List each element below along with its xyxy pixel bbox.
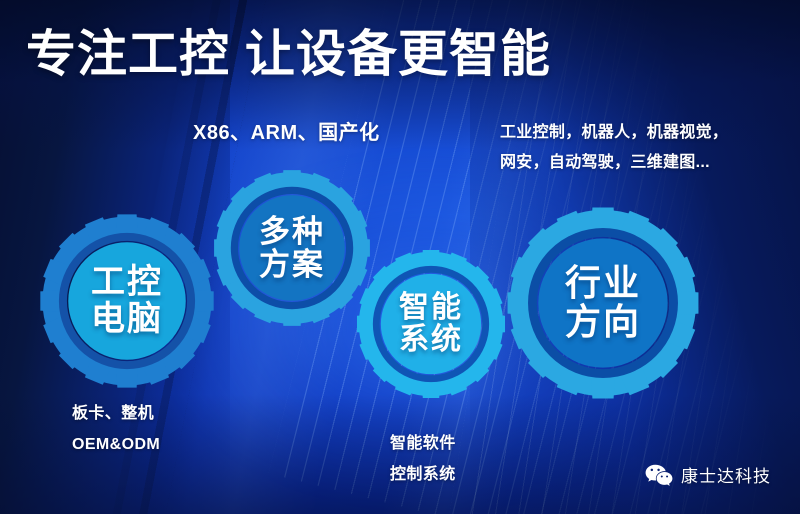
gear-tooth xyxy=(214,238,234,258)
wechat-icon xyxy=(645,464,673,486)
gear-tooth xyxy=(192,290,214,312)
gear-shape-icon xyxy=(212,168,372,328)
gear-tooth xyxy=(675,291,699,315)
gear-tooth xyxy=(591,208,615,232)
gear-shape-icon xyxy=(505,205,701,401)
caption-software-line-2: 控制系统 xyxy=(390,459,456,490)
gear-industry-direction[interactable]: 行业 方向 xyxy=(505,205,701,401)
gear-tooth xyxy=(422,250,441,269)
gear-tooth xyxy=(40,290,62,312)
wechat-account-name: 康士达科技 xyxy=(681,462,771,487)
gear-tooth xyxy=(422,379,441,398)
subtitle-applications: 工业控制，机器人，机器视觉， 网安，自动驾驶，三维建图... xyxy=(500,118,728,177)
gear-industrial-pc[interactable]: 工控 电脑 xyxy=(38,212,216,390)
caption-software-line-1: 智能软件 xyxy=(390,428,456,459)
promo-banner: 专注工控 让设备更智能 X86、ARM、国产化 工业控制，机器人，机器视觉， 网… xyxy=(0,0,800,514)
gear-tooth xyxy=(282,170,302,190)
gear-intelligent-system[interactable]: 智能 系统 xyxy=(355,248,507,400)
gear-tooth xyxy=(486,315,505,334)
gear-tooth xyxy=(591,375,615,399)
gear-shape-icon xyxy=(355,248,507,400)
caption-hardware-line-1: 板卡、整机 xyxy=(72,398,160,429)
gear-multiple-solutions[interactable]: 多种 方案 xyxy=(212,168,372,328)
gear-shape-icon xyxy=(38,212,216,390)
gear-tooth xyxy=(508,291,532,315)
caption-software: 智能软件 控制系统 xyxy=(390,428,456,490)
subtitle-applications-line-2: 网安，自动驾驶，三维建图... xyxy=(500,148,728,178)
caption-hardware-line-2: OEM&ODM xyxy=(72,429,160,460)
wechat-account-badge[interactable]: 康士达科技 xyxy=(645,462,771,487)
gear-tooth xyxy=(116,214,138,236)
gear-tooth xyxy=(282,306,302,326)
subtitle-platforms: X86、ARM、国产化 xyxy=(193,116,380,145)
subtitle-applications-line-1: 工业控制，机器人，机器视觉， xyxy=(500,118,728,148)
gear-tooth xyxy=(357,315,376,334)
caption-hardware: 板卡、整机 OEM&ODM xyxy=(72,398,160,460)
page-title: 专注工控 让设备更智能 xyxy=(26,28,551,81)
gear-tooth xyxy=(116,366,138,388)
